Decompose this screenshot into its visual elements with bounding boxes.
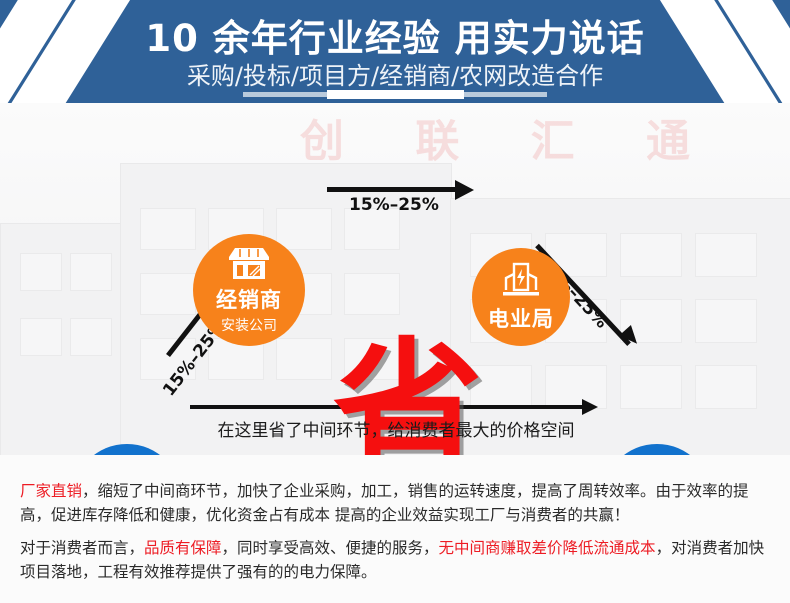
bg-window [20, 318, 62, 356]
bg-window [276, 208, 332, 250]
bg-window [140, 273, 196, 315]
bg-window [695, 233, 757, 277]
bg-window [695, 365, 757, 409]
promo-banner: 10 余年行业经验 用实力说话 采购/投标/项目方/经销商/农网改造合作 [0, 0, 790, 603]
bg-window [276, 338, 332, 380]
paragraph-two-part-c: ，同时享受高效、便捷的服务， [222, 539, 439, 557]
bg-window [344, 273, 400, 315]
power-building-icon [500, 262, 542, 298]
node-dealer-sublabel: 安装公司 [221, 315, 277, 335]
shop-icon [226, 246, 272, 280]
node-dealer[interactable]: 经销商 安装公司 [193, 234, 305, 346]
paragraph-two-part-a: 对于消费者而言， [20, 539, 144, 557]
node-power-bureau[interactable]: 电业局 [472, 248, 570, 346]
node-dealer-label: 经销商 [216, 284, 282, 314]
bg-window [695, 299, 757, 343]
background-watermark: 创 联 汇 通 [300, 105, 720, 169]
description-section: 厂家直销，缩短了中间商环节，加快了企业采购，加工，销售的运转速度，提高了周转效率… [0, 455, 790, 603]
highlight-no-middleman: 无中间商赚取差价降低流通成本 [439, 539, 656, 557]
bg-window [70, 318, 112, 356]
header-title: 10 余年行业经验 用实力说话 [0, 8, 790, 62]
highlight-quality-guarantee: 品质有保障 [144, 539, 222, 557]
bg-window [70, 253, 112, 291]
bg-window [620, 233, 682, 277]
header-banner: 10 余年行业经验 用实力说话 采购/投标/项目方/经销商/农网改造合作 [0, 0, 790, 103]
bg-window [20, 253, 62, 291]
bg-window [620, 365, 682, 409]
paragraph-one-rest: ，缩短了中间商环节，加快了企业采购，加工，销售的运转速度，提高了周转效率。由于效… [20, 482, 749, 524]
flow-diagram: 创 联 汇 通 15%–25% 15%–25% 15%–25% 省 在这里省了中… [0, 103, 790, 455]
header-subtitle: 采购/投标/项目方/经销商/农网改造合作 [0, 56, 790, 91]
bg-window [140, 208, 196, 250]
paragraph-one: 厂家直销，缩短了中间商环节，加快了企业采购，加工，销售的运转速度，提高了周转效率… [20, 479, 775, 527]
diagram-caption: 在这里省了中间环节，给消费者最大的价格空间 [201, 416, 591, 441]
header-divider-center [327, 90, 464, 99]
node-power-bureau-label: 电业局 [488, 303, 554, 333]
arrow-label-dealer-to-bureau: 15%–25% [349, 195, 439, 215]
highlight-factory-direct: 厂家直销 [20, 482, 82, 500]
paragraph-two: 对于消费者而言，品质有保障，同时享受高效、便捷的服务，无中间商赚取差价降低流通成… [20, 536, 775, 584]
